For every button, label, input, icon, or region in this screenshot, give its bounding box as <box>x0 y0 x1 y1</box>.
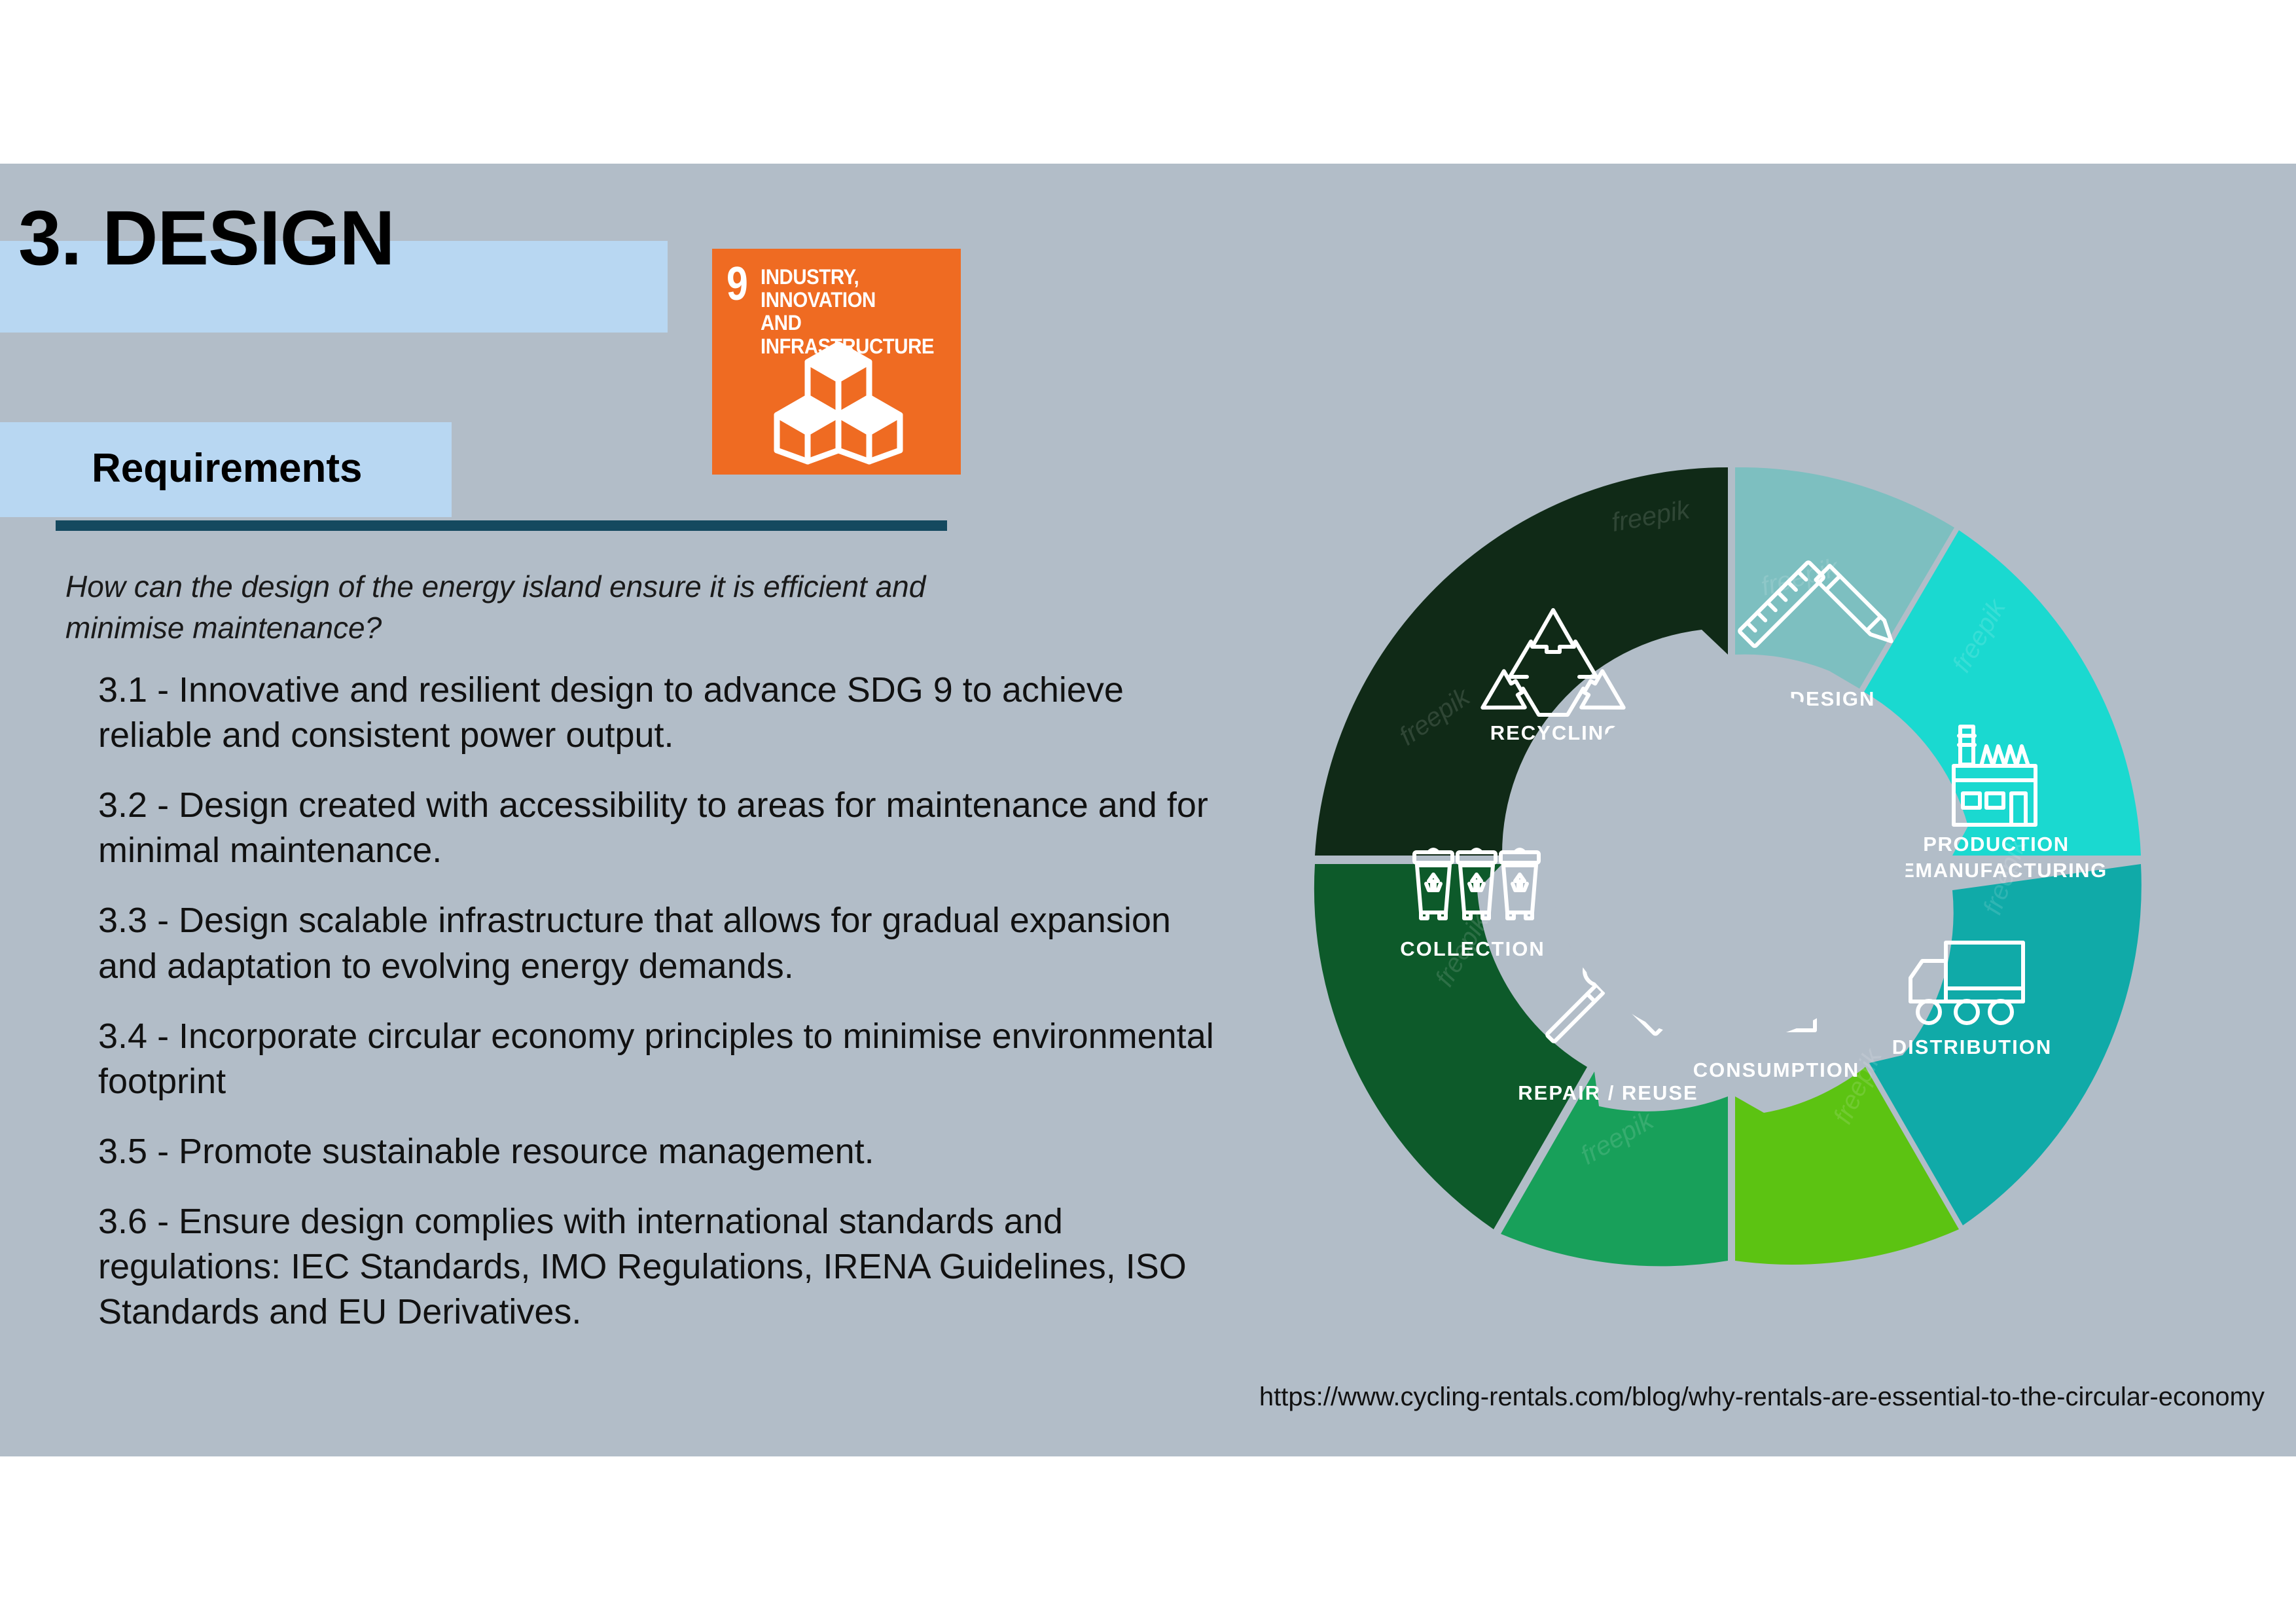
prompt-question: How can the design of the energy island … <box>65 566 1014 648</box>
requirements-list: 3.1 - Innovative and resilient design to… <box>98 668 1224 1360</box>
list-item: 3.1 - Innovative and resilient design to… <box>98 668 1224 758</box>
segment-label: REPAIR / REUSE <box>1518 1081 1698 1104</box>
circular-economy-diagram: freepik freepik freepik freepik freepik … <box>1306 458 2150 1270</box>
svg-text:REMANUFACTURING: REMANUFACTURING <box>1885 859 2107 882</box>
list-item: 3.6 - Ensure design complies with intern… <box>98 1199 1224 1335</box>
list-item: 3.5 - Promote sustainable resource manag… <box>98 1129 1224 1174</box>
three-cubes-icon <box>770 340 907 465</box>
segment-label: DISTRIBUTION <box>1892 1036 2052 1058</box>
segment-label: CONSUMPTION <box>1693 1058 1860 1081</box>
donut-center <box>1550 686 1906 1042</box>
cycle-svg: freepik freepik freepik freepik freepik … <box>1306 458 2150 1270</box>
sdg-9-badge: 9 INDUSTRY, INNOVATIONAND INFRASTRUCTURE <box>712 249 961 475</box>
section-heading: Requirements <box>92 445 362 492</box>
page-title: 3. DESIGN <box>18 200 395 277</box>
segment-label: COLLECTION <box>1400 937 1545 960</box>
source-url[interactable]: https://www.cycling-rentals.com/blog/why… <box>1152 1382 2265 1412</box>
list-item: 3.3 - Design scalable infrastructure tha… <box>98 898 1224 988</box>
slide-canvas: 3. DESIGN Requirements 9 INDUSTRY, INNOV… <box>0 164 2296 1456</box>
sdg-number: 9 <box>726 266 748 304</box>
section-divider <box>56 520 947 531</box>
svg-text:PRODUCTION: PRODUCTION <box>1923 833 2069 856</box>
list-item: 3.2 - Design created with accessibility … <box>98 783 1224 873</box>
list-item: 3.4 - Incorporate circular economy princ… <box>98 1014 1224 1104</box>
